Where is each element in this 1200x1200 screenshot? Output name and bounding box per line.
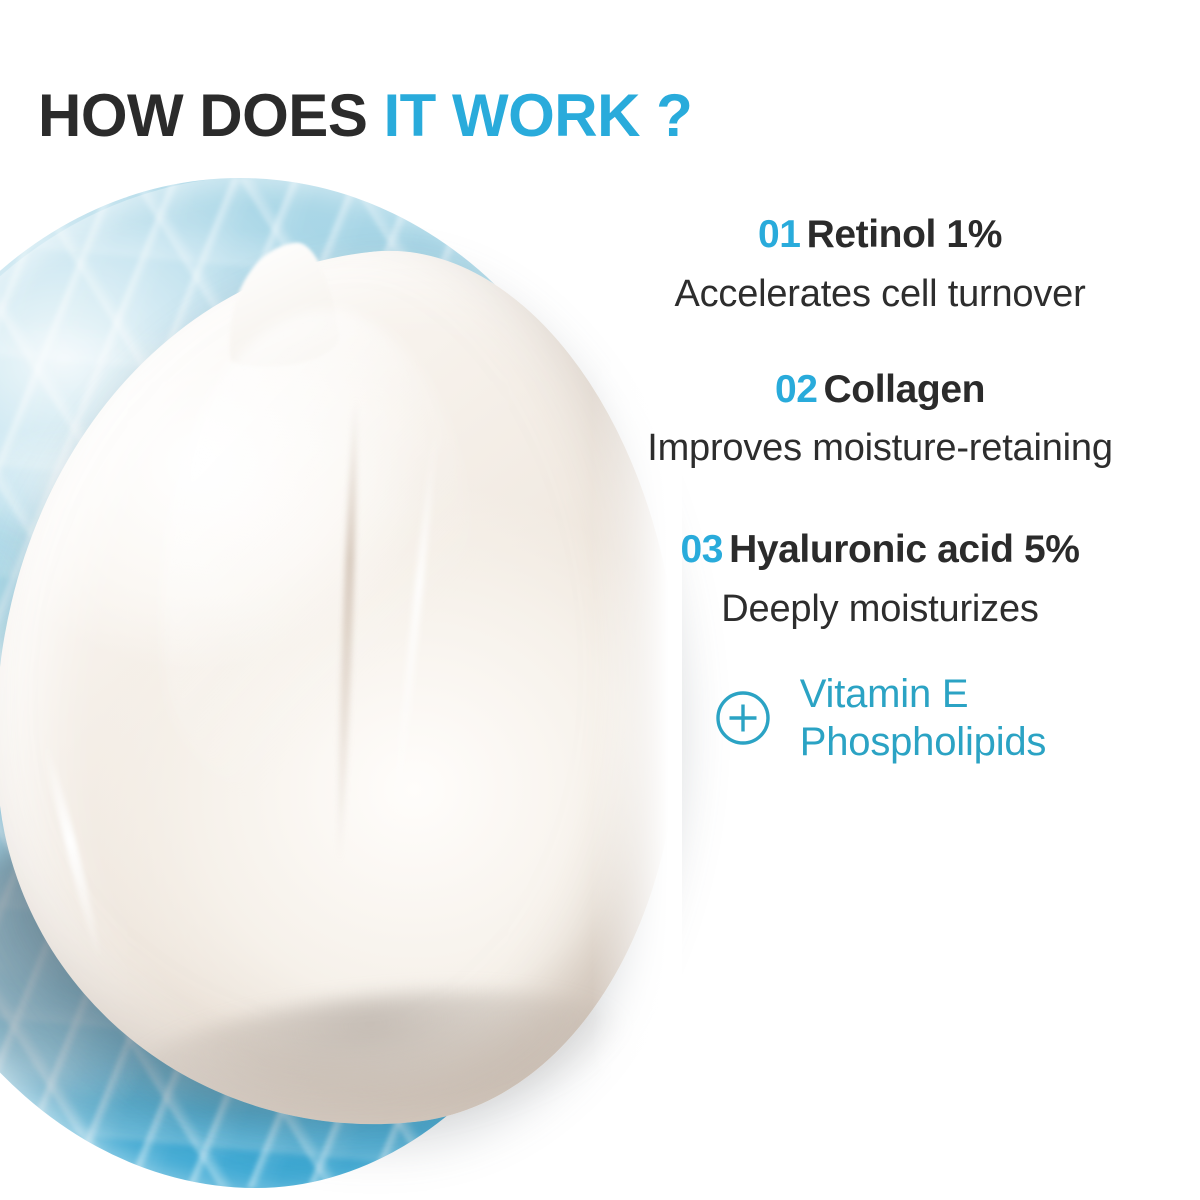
bonus-ingredient-row: Vitamin E Phospholipids — [600, 670, 1160, 768]
plus-circle-icon — [714, 689, 772, 747]
feature-item: 03Hyaluronic acid 5% Deeply moisturizes — [600, 525, 1160, 634]
feature-number: 02 — [775, 368, 818, 411]
cream-left-gloss — [40, 741, 105, 963]
bonus-line-1: Vitamin E — [800, 672, 969, 716]
feature-name: Retinol 1% — [807, 213, 1002, 256]
feature-number: 03 — [680, 528, 723, 571]
cream-highlight-swirl — [130, 296, 498, 831]
bonus-line-2: Phospholipids — [800, 720, 1046, 764]
feature-name: Hyaluronic acid 5% — [729, 528, 1079, 571]
feature-number: 01 — [758, 213, 801, 256]
feature-description: Improves moisture-retaining — [600, 424, 1160, 473]
feature-name: Collagen — [824, 368, 985, 411]
page-title: HOW DOES IT WORK ? — [38, 84, 692, 147]
page-title-plain: HOW DOES — [38, 82, 367, 149]
feature-description: Accelerates cell turnover — [600, 270, 1160, 319]
feature-item: 02Collagen Improves moisture-retaining — [600, 365, 1160, 474]
infographic-slide: HOW DOES IT WORK ? 01Retinol 1% Accelera… — [0, 0, 1200, 1200]
bonus-ingredient-text: Vitamin E Phospholipids — [800, 670, 1046, 768]
feature-heading: 01Retinol 1% — [600, 210, 1160, 260]
feature-list: 01Retinol 1% Accelerates cell turnover 0… — [600, 210, 1160, 767]
feature-heading: 02Collagen — [600, 365, 1160, 415]
feature-heading: 03Hyaluronic acid 5% — [600, 525, 1160, 575]
product-illustration — [0, 178, 680, 1200]
feature-description: Deeply moisturizes — [600, 585, 1160, 634]
page-title-accent: IT WORK ? — [384, 82, 693, 149]
feature-item: 01Retinol 1% Accelerates cell turnover — [600, 210, 1160, 319]
